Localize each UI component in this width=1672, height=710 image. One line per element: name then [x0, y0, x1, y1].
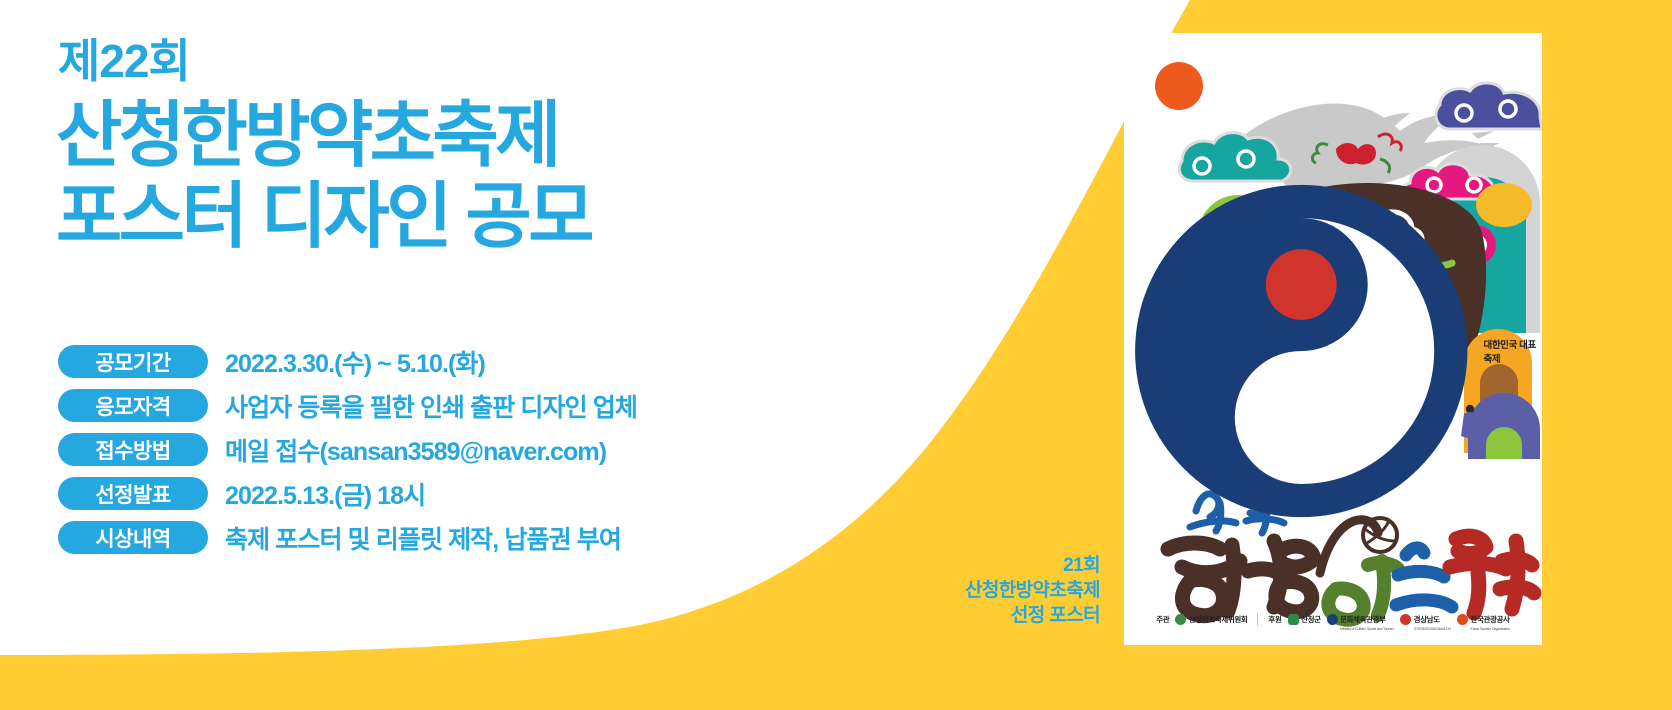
- support-label: 후원: [1268, 614, 1281, 625]
- headline-line-1: 산청한방약초축제: [56, 96, 591, 177]
- info-label-badge: 접수방법: [58, 433, 208, 466]
- info-label-badge: 시상내역: [58, 521, 208, 554]
- info-row: 접수방법 메일 접수(sansan3589@naver.com): [58, 429, 637, 470]
- supporter-item: 산청군: [1288, 614, 1321, 625]
- info-label-badge: 선정발표: [58, 477, 208, 510]
- sancheong-gun-logo-icon: [1288, 614, 1299, 625]
- host-item: 산청약초축제위원회: [1175, 614, 1247, 625]
- sponsor-row: 주관 산청약초축제위원회 후원 산청군 문화체육관광부 Ministry of …: [1124, 609, 1542, 631]
- page-title: 산청한방약초축제 포스터 디자인 공모: [56, 96, 591, 257]
- info-row: 선정발표 2022.5.13.(금) 18시: [58, 473, 637, 514]
- info-value: 2022.3.30.(수) ~ 5.10.(화): [225, 344, 485, 380]
- info-row: 시상내역 축제 포스터 및 리플릿 제작, 납품권 부여: [58, 517, 637, 558]
- info-value: 2022.5.13.(금) 18시: [225, 476, 425, 512]
- info-value: 축제 포스터 및 리플릿 제작, 납품권 부여: [225, 520, 621, 556]
- info-value: 사업자 등록을 필한 인쇄 출판 디자인 업체: [225, 388, 637, 424]
- poster-contest-banner: 제22회 산청한방약초축제 포스터 디자인 공모 공모기간 2022.3.30.…: [0, 0, 1672, 710]
- caption-line-3: 선정 포스터: [965, 603, 1100, 628]
- mcst-logo-icon: [1327, 614, 1338, 625]
- host-logo-icon: [1175, 614, 1186, 625]
- supporter-item: 한국관광공사 Korea Tourism Organization: [1457, 609, 1510, 631]
- info-row: 공모기간 2022.3.30.(수) ~ 5.10.(화): [58, 341, 637, 382]
- info-row: 응모자격 사업자 등록을 필한 인쇄 출판 디자인 업체: [58, 385, 637, 426]
- taegeuk-icon: [1124, 45, 1479, 645]
- host-label: 주관: [1156, 614, 1169, 625]
- caption-line-1: 21회: [965, 553, 1100, 578]
- supporter-name: 산청군: [1301, 614, 1321, 625]
- host-name: 산청약초축제위원회: [1189, 614, 1248, 625]
- supporter-name: 경상남도: [1414, 615, 1440, 624]
- supporter-item: 문화체육관광부 Ministry of Culture, Sports and …: [1327, 609, 1395, 631]
- info-value-email[interactable]: 메일 접수(sansan3589@naver.com): [225, 432, 606, 468]
- sponsor-divider: [1257, 613, 1258, 626]
- headline-line-2: 포스터 디자인 공모: [56, 177, 591, 258]
- government-emblem-row: 대한민국 대표축제: [1124, 45, 1542, 645]
- edition-label: 제22회: [58, 38, 190, 84]
- left-content-column: 제22회 산청한방약초축제 포스터 디자인 공모 공모기간 2022.3.30.…: [0, 0, 780, 710]
- poster-caption: 21회 산청한방약초축제 선정 포스터: [965, 553, 1100, 628]
- supporter-name: 문화체육관광부: [1340, 615, 1386, 624]
- gyeongnam-logo-icon: [1400, 614, 1411, 625]
- festival-poster-image[interactable]: 대한민국 대표축제 주관 산청약초축제위원회 후원 산청군 문화체육관광부 Mi…: [1124, 33, 1542, 645]
- supporter-name: 한국관광공사: [1471, 615, 1510, 624]
- supporter-text-block: 한국관광공사 Korea Tourism Organization: [1471, 609, 1510, 631]
- caption-line-2: 산청한방약초축제: [965, 578, 1100, 603]
- emblem-label: 대한민국 대표축제: [1484, 337, 1543, 365]
- kto-logo-icon: [1457, 614, 1468, 625]
- supporter-text-block: 문화체육관광부 Ministry of Culture, Sports and …: [1340, 609, 1394, 631]
- supporter-text-block: 경상남도 GYEONGSANGNAM-DO: [1414, 609, 1451, 631]
- supporter-sub: GYEONGSANGNAM-DO: [1414, 627, 1451, 631]
- supporter-item: 경상남도 GYEONGSANGNAM-DO: [1400, 609, 1451, 631]
- supporter-sub: Ministry of Culture, Sports and Tourism: [1340, 627, 1394, 631]
- info-label-badge: 공모기간: [58, 345, 208, 378]
- supporter-sub: Korea Tourism Organization: [1471, 627, 1510, 631]
- info-label-badge: 응모자격: [58, 389, 208, 422]
- info-list: 공모기간 2022.3.30.(수) ~ 5.10.(화) 응모자격 사업자 등…: [58, 341, 637, 561]
